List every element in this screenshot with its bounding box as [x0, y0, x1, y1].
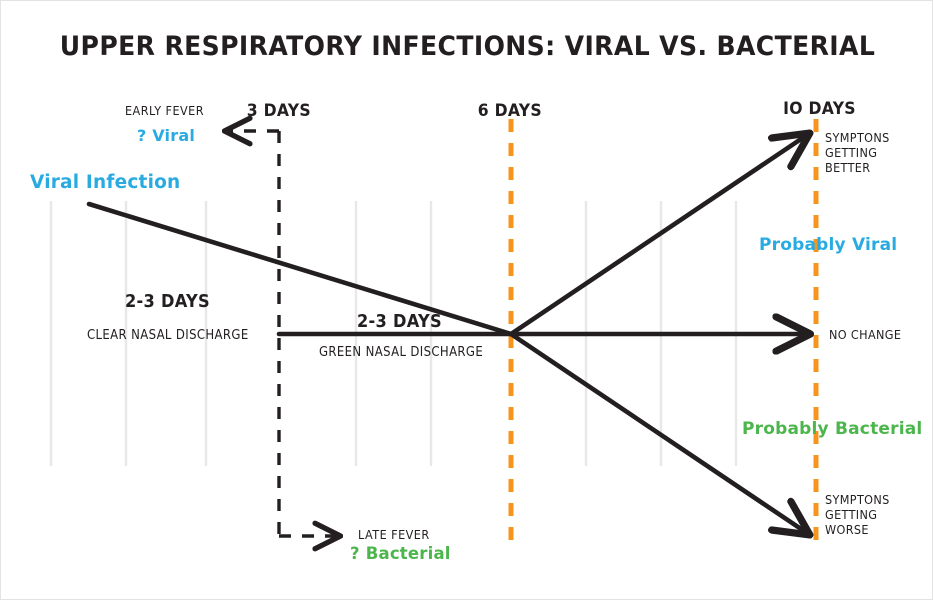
late-fever-verdict: ? Bacterial — [350, 544, 451, 563]
onset-label: Viral Infection — [30, 172, 180, 194]
early-fever-title: EARLY FEVER — [125, 104, 204, 119]
page-title: UPPER RESPIRATORY INFECTIONS: VIRAL VS. … — [34, 31, 902, 63]
outcome-verdict-bacterial: Probably Bacterial — [742, 419, 922, 439]
outcome-label-better: SYMPTONS GETTING BETTER — [825, 131, 890, 175]
infographic-canvas: UPPER RESPIRATORY INFECTIONS: VIRAL VS. … — [0, 0, 933, 600]
timeline-label-3days: 3 DAYS — [247, 101, 311, 121]
early-fever-verdict: ? Viral — [137, 127, 195, 146]
phase-two-duration: 2-3 DAYS — [357, 311, 442, 332]
timeline-label-6days: 6 DAYS — [478, 101, 542, 121]
outcome-label-worse: SYMPTONS GETTING WORSE — [825, 493, 890, 537]
onset-line — [89, 204, 511, 334]
outcome-verdict-viral: Probably Viral — [759, 235, 897, 255]
timeline-label-10days: IO DAYS — [783, 99, 856, 119]
phase-one-symptom: CLEAR NASAL DISCHARGE — [87, 328, 249, 343]
outcome-label-no-change: NO CHANGE — [829, 328, 901, 343]
phase-one-duration: 2-3 DAYS — [125, 291, 210, 312]
late-fever-title: LATE FEVER — [358, 528, 430, 543]
phase-two-symptom: GREEN NASAL DISCHARGE — [319, 345, 483, 360]
